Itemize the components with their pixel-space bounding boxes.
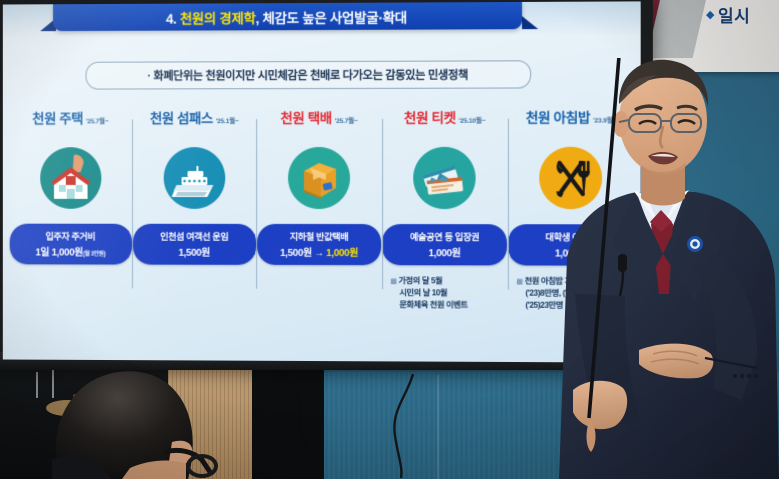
- column-period: '25.10월~: [459, 115, 486, 125]
- column-title: 천원 섬패스: [150, 107, 213, 127]
- presenter-person: [545, 58, 779, 479]
- column-title: 천원 주택: [32, 107, 83, 127]
- pill-amount-after: 1,000원: [326, 248, 358, 259]
- column-period: '25.7월~: [335, 115, 358, 125]
- slide-title-prefix: 4.: [166, 11, 180, 26]
- note-bullet-icon: ▩: [390, 278, 396, 285]
- slide-subtitle-box: · 화폐단위는 천원이지만 시민체감은 천배로 다가오는 감동있는 민생정책: [86, 60, 532, 89]
- slide-column-ticket: 천원 티켓 '25.10월~: [382, 107, 508, 344]
- pill-line-2: 1,500원: [178, 244, 210, 259]
- note-bullet-icon: ▩: [516, 279, 522, 286]
- slide-title-highlight: 천원의 경제학: [180, 11, 256, 26]
- screenshot-stage: ◆ 일시 4. 천원의 경제학, 체감도 높은 사업발굴·확대 · 화폐단위는 …: [0, 0, 779, 479]
- column-header: 천원 주택 '25.7월~: [32, 107, 108, 125]
- pill-line-1: 입주자 주거비: [45, 229, 95, 243]
- pill-line-2: 1,000원: [429, 244, 461, 259]
- slide-title: 4. 천원의 경제학, 체감도 높은 사업발굴·확대: [166, 6, 407, 27]
- column-header: 천원 택배 '25.7월~: [280, 107, 357, 125]
- pill-line-2: 1,500원 → 1,000원: [280, 244, 358, 259]
- slide-title-bar: 4. 천원의 경제학, 체감도 높은 사업발굴·확대: [53, 2, 522, 31]
- backdrop-label-text: 일시: [718, 2, 750, 27]
- column-note: ▩가정의 달 5월 시민의 날 10월 문화체육 천원 이벤트: [390, 275, 499, 311]
- column-period: '25.7월~: [86, 115, 109, 125]
- note-line: 시민의 날 10월: [390, 287, 499, 299]
- pill-amount-before: 1,500원 →: [280, 248, 326, 259]
- benefit-pill: 예술공연 등 입장권 1,000원: [382, 224, 507, 265]
- pill-line-1: 예술공연 등 입장권: [410, 229, 479, 243]
- wall-seam-left: [437, 375, 439, 479]
- ferry-ship-icon: [164, 147, 226, 209]
- slide-column-delivery: 천원 택배 '25.7월~ 지하철 반값택배 1,500원 → 1,: [257, 107, 382, 343]
- mic-stand-a: [36, 372, 38, 398]
- pill-amount-note: (월 3만원): [83, 252, 105, 258]
- note-line: ▩가정의 달 5월: [390, 275, 499, 287]
- slide-title-rest: , 체감도 높은 사업발굴·확대: [256, 10, 407, 26]
- column-header: 천원 티켓 '25.10월~: [404, 107, 485, 125]
- hand-house-icon: [40, 147, 101, 209]
- note-text: 가정의 달 5월: [399, 276, 443, 285]
- note-line: 문화체육 천원 이벤트: [390, 299, 499, 311]
- slide-columns: 천원 주택 '25.7월~: [9, 106, 635, 344]
- diamond-bullet-icon: ◆: [706, 8, 715, 21]
- benefit-pill: 입주자 주거비 1일 1,000원(월 3만원): [9, 224, 131, 265]
- column-header: 천원 섬패스 '25.1월~: [150, 107, 239, 125]
- wall-cable: [383, 374, 427, 478]
- parcel-box-icon: [288, 147, 350, 209]
- lapel-microphone: [618, 254, 627, 272]
- foreground-attendee: [52, 356, 262, 479]
- tickets-icon: [413, 147, 475, 209]
- pill-amount: 1일 1,000원: [35, 247, 82, 258]
- column-period: '25.1월~: [216, 115, 239, 125]
- benefit-pill: 인천섬 여객선 운임 1,500원: [133, 224, 256, 265]
- presenter-left-hand: [573, 381, 627, 429]
- desk-cable: [272, 368, 322, 458]
- pill-line-1: 인천섬 여객선 운임: [160, 229, 228, 243]
- pill-line-1: 지하철 반값택배: [290, 229, 349, 243]
- slide-column-housing: 천원 주택 '25.7월~: [9, 107, 132, 342]
- slide-subtitle: · 화폐단위는 천원이지만 시민체감은 천배로 다가오는 감동있는 민생정책: [147, 67, 468, 84]
- slide-column-island-pass: 천원 섬패스 '25.1월~: [132, 107, 256, 343]
- column-title: 천원 택배: [280, 107, 331, 127]
- column-title: 천원 티켓: [404, 107, 456, 127]
- benefit-pill: 지하철 반값택배 1,500원 → 1,000원: [257, 224, 381, 265]
- backdrop-schedule-label: ◆ 일시: [706, 2, 750, 27]
- pill-line-2: 1일 1,000원(월 3만원): [35, 244, 105, 259]
